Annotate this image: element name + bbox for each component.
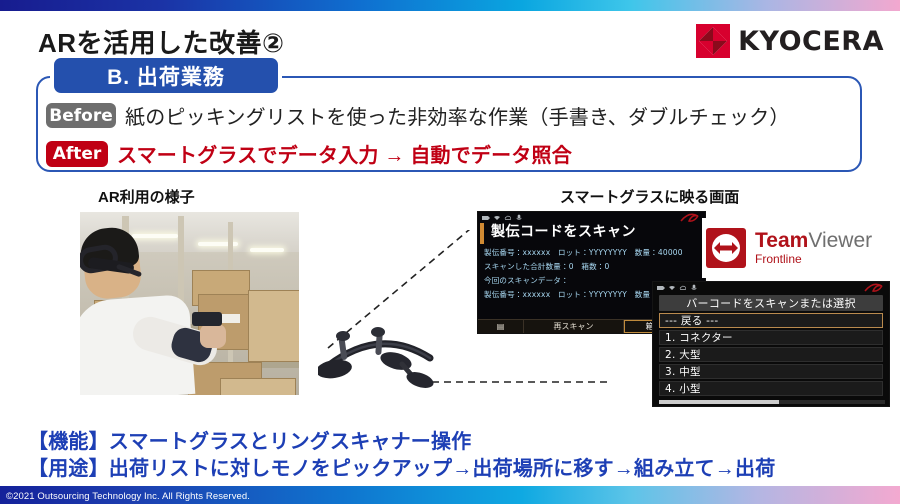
caption-glass-screen: スマートグラスに映る画面: [560, 186, 739, 207]
kyocera-wordmark: KYOCERA: [738, 28, 884, 55]
battery-icon: [482, 214, 490, 222]
menu-item-medium[interactable]: 3. 中型: [659, 364, 883, 379]
teamviewer-logo: TeamViewer Frontline: [702, 218, 892, 278]
photo-lamp: [250, 248, 284, 252]
cloud-icon: [504, 214, 512, 222]
kyocera-mark-icon: [696, 24, 730, 58]
teamviewer-name-bold: Team: [755, 229, 808, 252]
screen2-header: バーコードをスキャンまたは選択: [659, 295, 883, 311]
photo-ring-scanner: [192, 312, 222, 326]
microphone-icon: [515, 214, 523, 222]
menu-item-small[interactable]: 4. 小型: [659, 381, 883, 396]
teamviewer-wordmark: TeamViewer Frontline: [755, 230, 872, 266]
after-badge: After: [46, 141, 108, 167]
teamviewer-mark-icon: [706, 228, 746, 268]
screen1-line-2: スキャンした合計数量：0 箱数：0: [478, 258, 705, 272]
photo-worker-hand: [200, 324, 226, 348]
menu-item-connector[interactable]: 1. コネクター: [659, 330, 883, 345]
footer-usage-line: 【用途】出荷リストに対しモノをピックアップ→出荷場所に移す→組み立て→出荷: [28, 452, 775, 481]
warehouse-photo: [80, 212, 299, 395]
wifi-icon: [493, 214, 501, 222]
menu-item-back[interactable]: --- 戻る ---: [659, 313, 883, 328]
screen1-title: 製伝コードをスキャン: [480, 223, 705, 244]
teamviewer-subtitle: Frontline: [755, 253, 872, 266]
battery-icon: [657, 284, 665, 292]
teamviewer-swirl-icon: [863, 283, 885, 293]
screen1-status-bar: [478, 212, 705, 223]
wifi-icon: [668, 284, 676, 292]
rescan-button[interactable]: 再スキャン: [524, 320, 624, 333]
before-badge: Before: [46, 103, 116, 128]
kyocera-logo: KYOCERA: [696, 24, 884, 58]
menu-item-large[interactable]: 2. 大型: [659, 347, 883, 362]
before-description: 紙のピッキングリストを使った非効率な作業（手書き、ダブルチェック）: [125, 101, 790, 130]
screen2-status-bar: [653, 282, 889, 293]
copyright-text: ©2021 Outsourcing Technology Inc. All Ri…: [6, 491, 250, 502]
top-gradient-bar: [0, 0, 900, 11]
caption-ar-usage: AR利用の様子: [98, 186, 195, 207]
cloud-icon: [679, 284, 687, 292]
teamviewer-swirl-icon: [679, 213, 701, 223]
screen2-scrollbar[interactable]: [659, 400, 885, 404]
footer-feature-line: 【機能】スマートグラスとリングスキャナー操作: [28, 425, 471, 454]
menu-button[interactable]: ▤: [478, 320, 524, 333]
after-description: スマートグラスでデータ入力 → 自動でデータ照合: [117, 139, 572, 168]
glass-screen-barcode-menu: バーコードをスキャンまたは選択 --- 戻る --- 1. コネクター 2. 大…: [652, 281, 890, 407]
page-title: ARを活用した改善②: [38, 23, 285, 60]
photo-lamp: [132, 234, 178, 238]
microphone-icon: [690, 284, 698, 292]
before-row: Before 紙のピッキングリストを使った非効率な作業（手書き、ダブルチェック）: [46, 101, 790, 130]
after-row: After スマートグラスでデータ入力 → 自動でデータ照合: [46, 139, 572, 168]
section-tab-b: B. 出荷業務: [54, 58, 278, 93]
smart-glasses-device-image: [318, 322, 448, 392]
teamviewer-name-light: Viewer: [808, 229, 872, 252]
screen1-line-1: 製伝番号：xxxxxx ロット：YYYYYYYY 数量：40000: [478, 244, 705, 258]
